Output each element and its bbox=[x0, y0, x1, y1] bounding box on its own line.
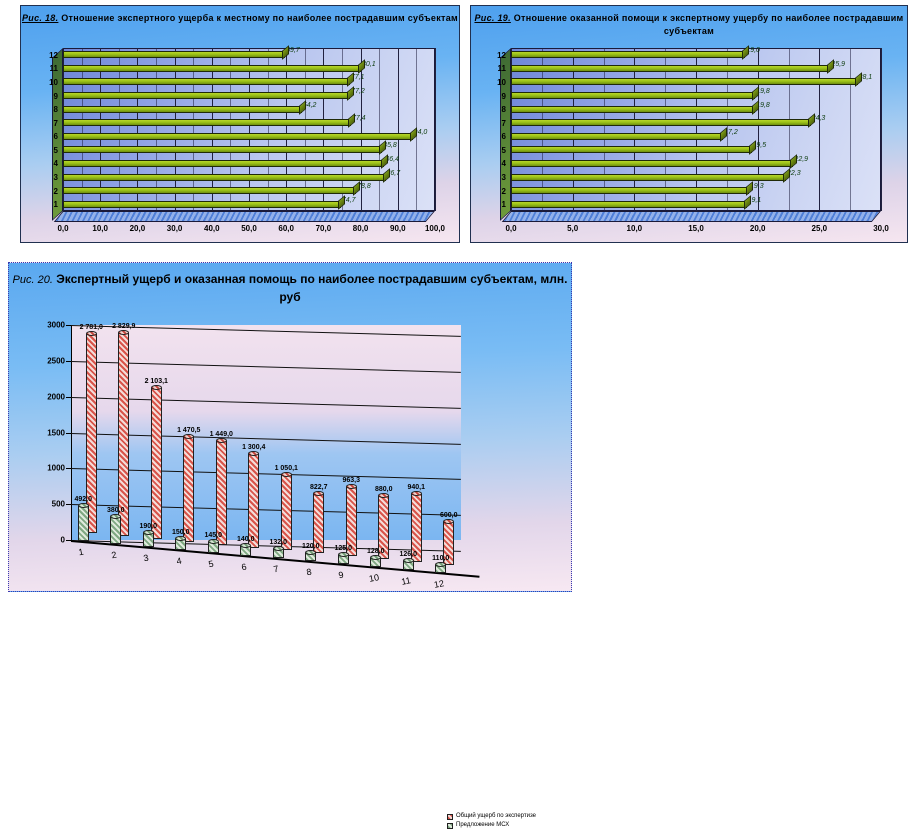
bar-value-label: 24,3 bbox=[812, 115, 826, 122]
x-axis-tick-label: 0,0 bbox=[57, 224, 68, 233]
bar: 17,2 bbox=[511, 133, 723, 140]
bar-value-label: 22,9 bbox=[794, 156, 808, 163]
x-axis-category-label: 11 bbox=[401, 575, 412, 587]
category-label: 10 bbox=[497, 78, 506, 87]
bar: 80,1 bbox=[63, 65, 361, 72]
column-cap bbox=[305, 550, 316, 555]
figure-19-title-text: Отношение оказанной помощи к экспертному… bbox=[514, 13, 904, 36]
column-aid bbox=[143, 533, 154, 547]
bar-value-label: 19,0 bbox=[746, 47, 760, 54]
column-damage bbox=[183, 437, 194, 542]
bar-value-label: 77,1 bbox=[351, 74, 365, 81]
gridline bbox=[435, 48, 436, 211]
x-axis-tick-label: 20,0 bbox=[130, 224, 146, 233]
x-axis-tick-label: 90,0 bbox=[390, 224, 406, 233]
bar-value-label: 28,1 bbox=[859, 74, 873, 81]
column-value-label-aid: 380,0 bbox=[107, 507, 125, 514]
column-value-label-damage: 1 050,1 bbox=[275, 465, 298, 472]
bar: 19,5 bbox=[511, 146, 752, 153]
bar: 59,7 bbox=[63, 51, 285, 58]
column-value-label-aid: 492,0 bbox=[74, 496, 92, 503]
column-aid bbox=[78, 506, 89, 541]
category-label: 10 bbox=[49, 78, 58, 87]
column-value-label-aid: 125,0 bbox=[334, 545, 352, 552]
gridline bbox=[819, 48, 820, 211]
x-axis-tick-label: 100,0 bbox=[425, 224, 445, 233]
figure-20-plot-area: 0500100015002000250030002 781,0492,012 8… bbox=[71, 325, 461, 540]
column-cap bbox=[443, 519, 454, 524]
legend-label: Предложение МСХ bbox=[456, 821, 509, 830]
column-aid bbox=[175, 539, 186, 550]
y-axis-tick-label: 1000 bbox=[47, 464, 65, 473]
column-value-label-damage: 2 829,9 bbox=[112, 323, 135, 330]
bar: 25,9 bbox=[511, 65, 830, 72]
bar-value-label: 22,3 bbox=[787, 170, 801, 177]
category-label: 3 bbox=[54, 173, 58, 182]
column-cap bbox=[183, 434, 194, 439]
column-cap bbox=[346, 484, 357, 489]
x-axis-tick-label: 10,0 bbox=[92, 224, 108, 233]
plot-floor bbox=[71, 325, 461, 540]
column-value-label-aid: 120,0 bbox=[302, 543, 320, 550]
gridline-minor bbox=[379, 48, 380, 211]
category-label: 7 bbox=[54, 119, 58, 128]
column-value-label-damage: 1 449,0 bbox=[210, 431, 233, 438]
y-axis-tick-label: 3000 bbox=[47, 321, 65, 330]
legend-swatch bbox=[447, 814, 453, 820]
figure-18-title: Рис. 18. Отношение экспертного ущерба к … bbox=[21, 12, 459, 25]
bar: 22,3 bbox=[511, 174, 786, 181]
x-axis-category-label: 10 bbox=[368, 572, 380, 584]
column-value-label-damage: 600,0 bbox=[440, 512, 458, 519]
bar: 19,0 bbox=[511, 51, 745, 58]
figure-18-number: Рис. 18. bbox=[22, 13, 58, 23]
column-cap bbox=[216, 438, 227, 443]
legend-item: Общий ущерб по экспертизе bbox=[447, 812, 536, 821]
x-axis-tick-label: 5,0 bbox=[567, 224, 578, 233]
figure-20-title-text: Экспертный ущерб и оказанная помощь по н… bbox=[56, 272, 567, 304]
y-axis-tick-mark bbox=[66, 433, 71, 434]
column-aid bbox=[208, 542, 219, 552]
bar: 94,0 bbox=[63, 133, 413, 140]
column-value-label-aid: 132,0 bbox=[269, 539, 287, 546]
bar-value-label: 19,5 bbox=[753, 142, 767, 149]
x-axis-category-label: 2 bbox=[110, 550, 117, 561]
bar-value-label: 80,1 bbox=[362, 61, 376, 68]
category-label: 3 bbox=[502, 173, 506, 182]
column-cap bbox=[118, 330, 129, 335]
x-axis-category-label: 12 bbox=[433, 578, 445, 590]
category-label: 5 bbox=[54, 146, 58, 155]
column-cap bbox=[175, 536, 186, 541]
bar: 64,2 bbox=[63, 106, 302, 113]
category-label: 1 bbox=[54, 200, 58, 209]
column-cap bbox=[208, 539, 219, 544]
figure-20-title: Рис. 20. Экспертный ущерб и оказанная по… bbox=[9, 271, 571, 306]
category-label: 11 bbox=[50, 64, 58, 73]
legend-swatch bbox=[447, 823, 453, 829]
category-label: 9 bbox=[502, 92, 506, 101]
column-damage bbox=[248, 454, 259, 547]
bar: 74,7 bbox=[63, 201, 341, 208]
y-axis-tick-label: 1500 bbox=[47, 428, 65, 437]
column-value-label-damage: 963,3 bbox=[342, 477, 360, 484]
bar: 85,8 bbox=[63, 146, 382, 153]
bar-value-label: 85,8 bbox=[383, 142, 397, 149]
category-label: 8 bbox=[502, 105, 506, 114]
bar-value-label: 59,7 bbox=[286, 47, 300, 54]
column-aid bbox=[110, 517, 121, 544]
plot-floor bbox=[54, 211, 435, 222]
y-axis-tick-mark bbox=[66, 361, 71, 362]
x-axis-category-label: 6 bbox=[240, 561, 247, 572]
column-value-label-damage: 1 300,4 bbox=[242, 444, 265, 451]
bar: 77,1 bbox=[63, 78, 350, 85]
column-cap bbox=[281, 472, 292, 477]
column-value-label-aid: 190,0 bbox=[139, 523, 157, 530]
bar: 77,2 bbox=[63, 92, 350, 99]
y-axis-tick-mark bbox=[66, 397, 71, 398]
column-value-label-aid: 150,0 bbox=[172, 529, 190, 536]
category-label: 12 bbox=[497, 51, 506, 60]
figure-18-plot-area: 74,7178,8286,7386,4485,8594,0677,4764,28… bbox=[63, 48, 435, 211]
column-value-label-damage: 2 781,0 bbox=[80, 324, 103, 331]
bar: 78,8 bbox=[63, 187, 356, 194]
bar-value-label: 25,9 bbox=[831, 61, 845, 68]
figure-19-number: Рис. 19. bbox=[474, 13, 510, 23]
column-value-label-damage: 2 103,1 bbox=[145, 378, 168, 385]
x-axis-category-label: 4 bbox=[175, 556, 182, 567]
column-cap bbox=[273, 546, 284, 551]
category-label: 2 bbox=[54, 187, 58, 196]
column-damage bbox=[151, 388, 162, 539]
category-label: 9 bbox=[54, 92, 58, 101]
bar-value-label: 19,1 bbox=[748, 197, 762, 204]
column-aid bbox=[370, 558, 381, 567]
gridline bbox=[398, 48, 399, 211]
column-aid bbox=[435, 565, 446, 573]
y-axis-tick-label: 0 bbox=[61, 536, 65, 545]
category-label: 1 bbox=[502, 200, 506, 209]
figure-20-legend: Общий ущерб по экспертизеПредложение МСХ bbox=[447, 812, 536, 830]
y-axis-tick-mark bbox=[66, 468, 71, 469]
x-axis-tick-label: 0,0 bbox=[505, 224, 516, 233]
bar-value-label: 74,7 bbox=[342, 197, 356, 204]
bar-value-label: 17,2 bbox=[724, 129, 738, 136]
column-value-label-aid: 110,0 bbox=[432, 555, 449, 562]
bar-value-label: 78,8 bbox=[357, 183, 371, 190]
bar: 19,8 bbox=[511, 92, 755, 99]
bar: 22,9 bbox=[511, 160, 793, 167]
x-axis-category-label: 8 bbox=[305, 567, 312, 578]
column-cap bbox=[86, 331, 97, 336]
x-axis-tick-label: 20,0 bbox=[750, 224, 766, 233]
x-axis-category-label: 1 bbox=[78, 547, 85, 558]
bar-value-label: 86,7 bbox=[387, 170, 401, 177]
gridline-minor bbox=[789, 48, 790, 211]
bar-value-label: 77,2 bbox=[351, 88, 365, 95]
legend-item: Предложение МСХ bbox=[447, 821, 536, 830]
x-axis-category-label: 7 bbox=[273, 564, 280, 575]
column-damage bbox=[118, 333, 129, 536]
figure-19-plot-area: 19,1119,3222,3322,9419,5517,2624,3719,88… bbox=[511, 48, 881, 211]
column-cap bbox=[110, 514, 121, 519]
bar-value-label: 64,2 bbox=[303, 102, 317, 109]
x-axis-category-label: 9 bbox=[338, 570, 345, 581]
category-label: 2 bbox=[502, 187, 506, 196]
column-cap bbox=[378, 493, 389, 498]
column-cap bbox=[240, 543, 251, 548]
bar-value-label: 19,3 bbox=[750, 183, 764, 190]
y-axis-tick-label: 2000 bbox=[47, 392, 65, 401]
column-aid bbox=[273, 549, 284, 558]
plot-floor bbox=[502, 211, 881, 222]
column-aid bbox=[403, 561, 414, 570]
x-axis-tick-label: 30,0 bbox=[873, 224, 889, 233]
column-cap bbox=[411, 491, 422, 496]
x-axis-tick-label: 15,0 bbox=[688, 224, 704, 233]
y-axis-tick-mark bbox=[66, 325, 71, 326]
category-label: 11 bbox=[498, 64, 506, 73]
column-value-label-damage: 940,1 bbox=[407, 484, 425, 491]
category-label: 4 bbox=[54, 159, 58, 168]
column-value-label-damage: 1 470,5 bbox=[177, 427, 200, 434]
column-damage bbox=[216, 441, 227, 545]
figure-18-panel: Рис. 18. Отношение экспертного ущерба к … bbox=[20, 5, 460, 243]
column-value-label-aid: 128,0 bbox=[367, 548, 385, 555]
bar: 86,7 bbox=[63, 174, 386, 181]
category-label: 5 bbox=[502, 146, 506, 155]
column-cap bbox=[370, 555, 381, 560]
gridline-minor bbox=[850, 48, 851, 211]
bar: 19,1 bbox=[511, 201, 747, 208]
legend-label: Общий ущерб по экспертизе bbox=[456, 812, 536, 821]
x-axis-tick-label: 80,0 bbox=[353, 224, 369, 233]
y-axis-tick-label: 500 bbox=[52, 500, 65, 509]
figure-19-panel: Рис. 19. Отношение оказанной помощи к эк… bbox=[470, 5, 908, 243]
bar-value-label: 94,0 bbox=[414, 129, 428, 136]
figure-20-number: Рис. 20. bbox=[13, 274, 53, 286]
column-cap bbox=[435, 562, 446, 567]
x-axis-tick-label: 40,0 bbox=[204, 224, 220, 233]
category-label: 4 bbox=[502, 159, 506, 168]
column-cap bbox=[313, 491, 324, 496]
column-aid bbox=[240, 546, 251, 556]
figure-18-title-text: Отношение экспертного ущерба к местному … bbox=[61, 13, 458, 23]
x-axis-category-label: 3 bbox=[143, 553, 150, 564]
y-axis-tick-label: 2500 bbox=[47, 356, 65, 365]
bar-value-label: 19,8 bbox=[756, 88, 770, 95]
x-axis-tick-label: 10,0 bbox=[627, 224, 643, 233]
category-label: 6 bbox=[54, 132, 58, 141]
y-axis-tick-mark bbox=[66, 504, 71, 505]
column-aid bbox=[305, 553, 316, 562]
x-axis-tick-label: 60,0 bbox=[278, 224, 294, 233]
bar-value-label: 86,4 bbox=[385, 156, 399, 163]
x-axis-tick-label: 30,0 bbox=[167, 224, 183, 233]
category-label: 8 bbox=[54, 105, 58, 114]
column-cap bbox=[338, 552, 349, 557]
bar: 24,3 bbox=[511, 119, 811, 126]
figure-20-panel: Рис. 20. Экспертный ущерб и оказанная по… bbox=[8, 262, 572, 592]
column-cap bbox=[151, 385, 162, 390]
column-cap bbox=[403, 558, 414, 563]
x-axis-tick-label: 50,0 bbox=[241, 224, 257, 233]
column-cap bbox=[78, 503, 89, 508]
bar: 19,8 bbox=[511, 106, 755, 113]
x-axis-category-label: 5 bbox=[208, 558, 215, 569]
category-label: 12 bbox=[49, 51, 58, 60]
column-value-label-aid: 145,0 bbox=[204, 532, 222, 539]
column-value-label-aid: 126,0 bbox=[399, 551, 417, 558]
figure-19-title: Рис. 19. Отношение оказанной помощи к эк… bbox=[471, 12, 907, 38]
column-value-label-damage: 880,0 bbox=[375, 486, 393, 493]
gridline bbox=[881, 48, 882, 211]
bar: 19,3 bbox=[511, 187, 749, 194]
column-cap bbox=[143, 530, 154, 535]
category-label: 7 bbox=[502, 119, 506, 128]
column-cap bbox=[248, 451, 259, 456]
column-value-label-damage: 822,7 bbox=[310, 484, 328, 491]
bar-value-label: 77,4 bbox=[352, 115, 366, 122]
bar: 28,1 bbox=[511, 78, 858, 85]
bar-value-label: 19,8 bbox=[756, 102, 770, 109]
x-axis-tick-label: 70,0 bbox=[316, 224, 332, 233]
bar: 86,4 bbox=[63, 160, 384, 167]
column-aid bbox=[338, 555, 349, 564]
category-label: 6 bbox=[502, 132, 506, 141]
x-axis-tick-label: 25,0 bbox=[812, 224, 828, 233]
bar: 77,4 bbox=[63, 119, 351, 126]
column-value-label-aid: 140,0 bbox=[237, 536, 255, 543]
